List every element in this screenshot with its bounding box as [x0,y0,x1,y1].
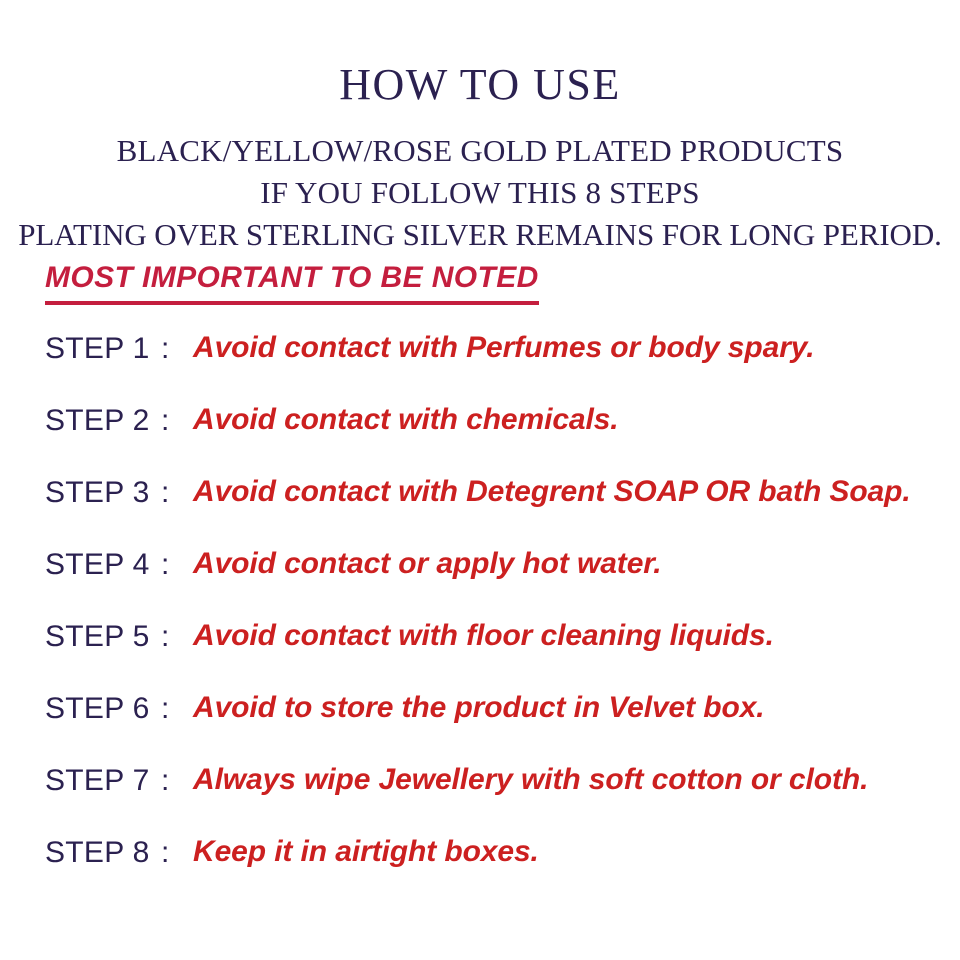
step-row: STEP 5 : Avoid contact with floor cleani… [0,622,960,694]
step-label: STEP 4 [45,550,180,580]
step-row: STEP 8 : Keep it in airtight boxes. [0,838,960,910]
step-label: STEP 3 [45,478,180,508]
step-colon: : [161,334,169,364]
step-row: STEP 7 : Always wipe Jewellery with soft… [0,766,960,838]
most-important-notice: MOST IMPORTANT TO BE NOTED [45,263,539,305]
step-label: STEP 2 [45,406,180,436]
care-instructions-poster: HOW TO USE BLACK/YELLOW/ROSE GOLD PLATED… [0,0,960,960]
step-row: STEP 6 : Avoid to store the product in V… [0,694,960,766]
step-colon: : [161,838,169,868]
step-colon: : [161,406,169,436]
subtitle-line-2: IF YOU FOLLOW THIS 8 STEPS [0,177,960,208]
step-row: STEP 3 : Avoid contact with Detegrent SO… [0,478,960,550]
step-instruction: Avoid to store the product in Velvet box… [193,693,765,723]
step-colon: : [161,478,169,508]
step-instruction: Avoid contact with floor cleaning liquid… [193,621,774,651]
step-colon: : [161,766,169,796]
step-instruction: Always wipe Jewellery with soft cotton o… [193,765,868,795]
header-block: HOW TO USE BLACK/YELLOW/ROSE GOLD PLATED… [0,0,960,250]
step-row: STEP 4 : Avoid contact or apply hot wate… [0,550,960,622]
page-title: HOW TO USE [0,0,960,107]
step-row: STEP 1 : Avoid contact with Perfumes or … [0,334,960,406]
step-instruction: Avoid contact or apply hot water. [193,549,661,579]
step-label: STEP 6 [45,694,180,724]
step-colon: : [161,694,169,724]
step-row: STEP 2 : Avoid contact with chemicals. [0,406,960,478]
step-colon: : [161,622,169,652]
step-label: STEP 1 [45,334,180,364]
step-instruction: Avoid contact with chemicals. [193,405,619,435]
notice-heading-label: MOST IMPORTANT TO BE NOTED [45,263,539,305]
step-instruction: Avoid contact with Perfumes or body spar… [193,333,814,363]
step-colon: : [161,550,169,580]
step-instruction: Avoid contact with Detegrent SOAP OR bat… [193,477,911,507]
step-label: STEP 7 [45,766,180,796]
steps-list: STEP 1 : Avoid contact with Perfumes or … [0,334,960,910]
subtitle-line-3: PLATING OVER STERLING SILVER REMAINS FOR… [0,219,960,250]
subtitle-group: BLACK/YELLOW/ROSE GOLD PLATED PRODUCTS I… [0,135,960,250]
step-label: STEP 8 [45,838,180,868]
subtitle-line-1: BLACK/YELLOW/ROSE GOLD PLATED PRODUCTS [0,135,960,166]
step-label: STEP 5 [45,622,180,652]
step-instruction: Keep it in airtight boxes. [193,837,539,867]
